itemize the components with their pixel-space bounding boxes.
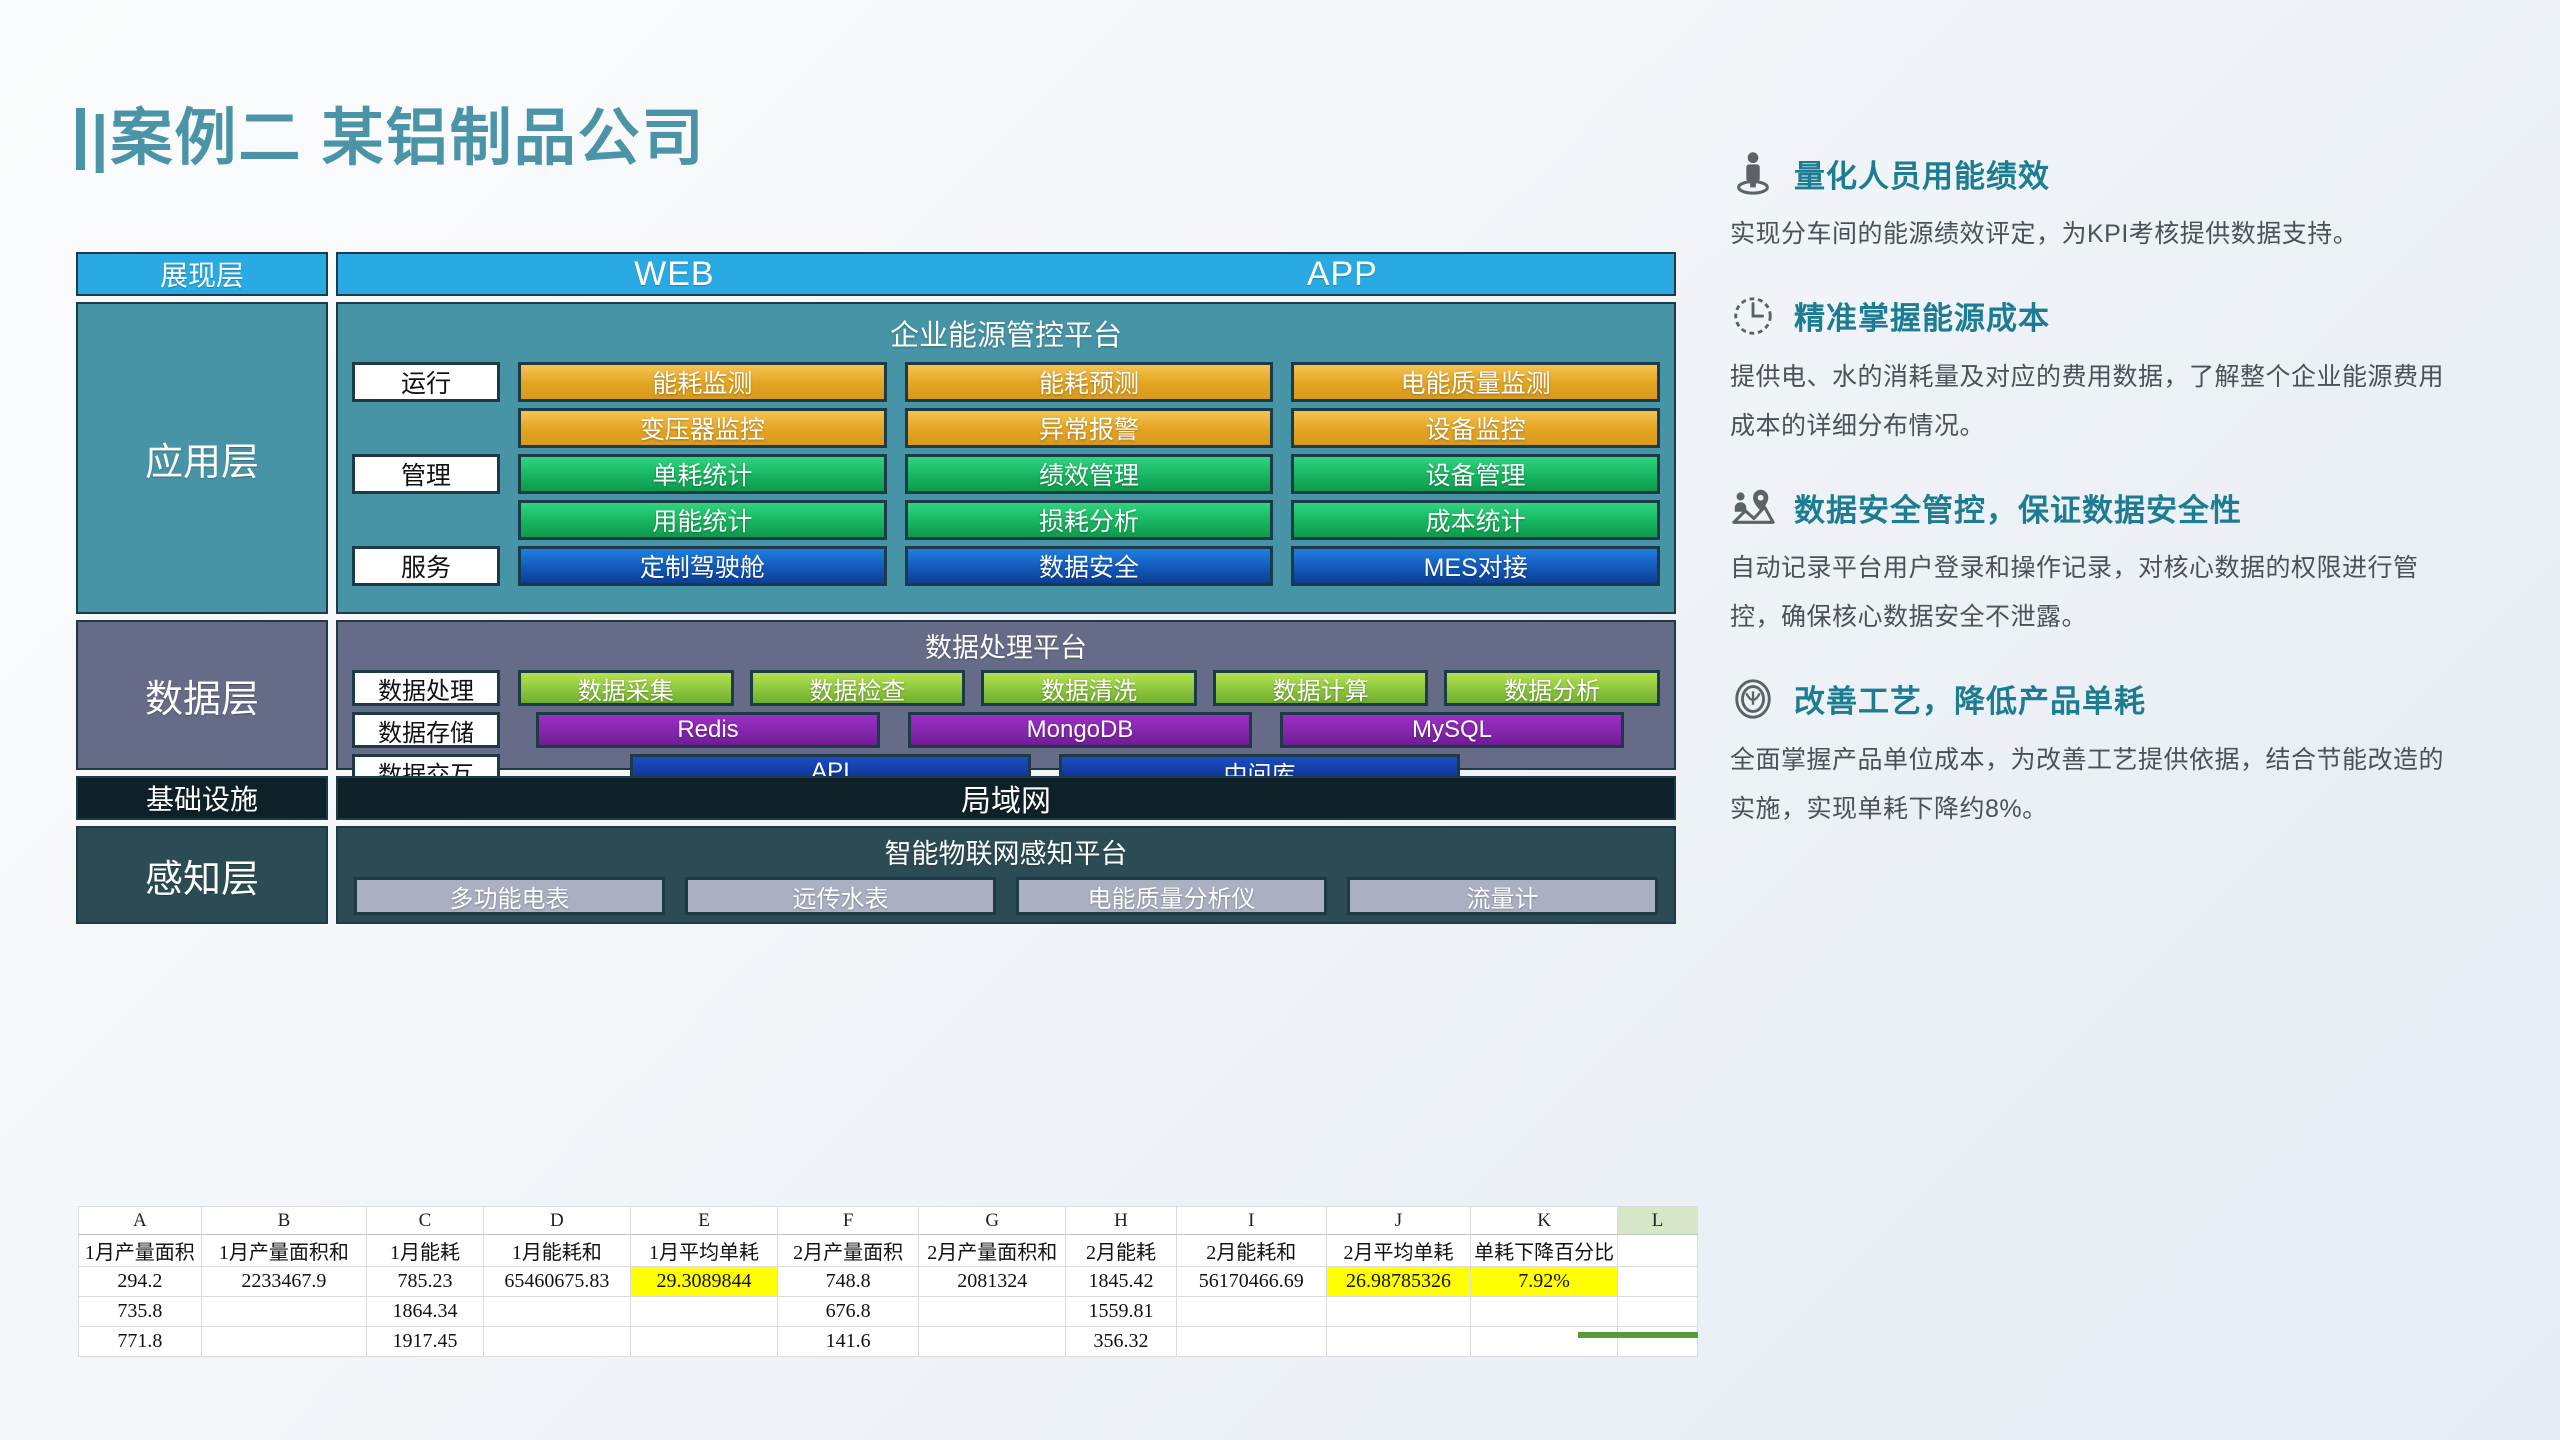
data-store-redis[interactable]: Redis xyxy=(536,712,880,748)
header-cell-g[interactable]: 2月产量面积和 xyxy=(919,1235,1066,1267)
cell-f2[interactable]: 676.8 xyxy=(778,1297,919,1327)
application-layer-row: 应用层 企业能源管控平台 运行 能耗监测 能耗预测 电能质量监测 变压器监控 xyxy=(76,302,1676,614)
cell-g2[interactable] xyxy=(919,1297,1066,1327)
cell-l2[interactable] xyxy=(1618,1297,1698,1327)
header-cell-d[interactable]: 1月能耗和 xyxy=(483,1235,630,1267)
cell-h1[interactable]: 1845.42 xyxy=(1066,1267,1176,1297)
data-layer-row: 数据层 数据处理平台 数据处理 数据采集 数据检查 数据清洗 数据计算 数据分析… xyxy=(76,620,1676,770)
app-category-service: 服务 xyxy=(352,546,500,586)
cell-k2[interactable] xyxy=(1471,1297,1618,1327)
cell-b2[interactable] xyxy=(201,1297,367,1327)
app-module-energy-monitor[interactable]: 能耗监测 xyxy=(518,362,887,402)
app-module-cost-stats[interactable]: 成本统计 xyxy=(1291,500,1660,540)
cell-f3[interactable]: 141.6 xyxy=(778,1327,919,1357)
column-letter-row: A B C D E F G H I J K L xyxy=(79,1207,1698,1235)
spreadsheet-table: A B C D E F G H I J K L 1月产量面积 1月产量面积和 1… xyxy=(78,1206,1698,1357)
app-module-loss-analysis[interactable]: 损耗分析 xyxy=(905,500,1274,540)
data-category-storage: 数据存储 xyxy=(352,712,500,748)
cell-e2[interactable] xyxy=(630,1297,777,1327)
column-letter-b[interactable]: B xyxy=(201,1207,367,1235)
header-cell-i[interactable]: 2月能耗和 xyxy=(1176,1235,1326,1267)
header-cell-b[interactable]: 1月产量面积和 xyxy=(201,1235,367,1267)
data-category-processing: 数据处理 xyxy=(352,670,500,706)
column-letter-e[interactable]: E xyxy=(630,1207,777,1235)
benefit-body: 自动记录平台用户登录和操作记录，对核心数据的权限进行管控，确保核心数据安全不泄露… xyxy=(1730,544,2450,642)
perception-layer-row: 感知层 智能物联网感知平台 多功能电表 远传水表 电能质量分析仪 流量计 xyxy=(76,826,1676,924)
header-cell-f[interactable]: 2月产量面积 xyxy=(778,1235,919,1267)
clock-icon xyxy=(1730,293,1776,339)
app-module-energy-usage-stats[interactable]: 用能统计 xyxy=(518,500,887,540)
app-module-unit-consumption-stats[interactable]: 单耗统计 xyxy=(518,454,887,494)
column-letter-c[interactable]: C xyxy=(367,1207,484,1235)
benefit-title: 量化人员用能绩效 xyxy=(1794,151,2050,196)
title-accent-bar xyxy=(76,108,85,170)
app-module-data-security[interactable]: 数据安全 xyxy=(905,546,1274,586)
layer-label-application: 应用层 xyxy=(76,302,328,614)
device-flow-meter[interactable]: 流量计 xyxy=(1347,877,1658,915)
layer-label-presentation: 展现层 xyxy=(76,252,328,296)
cell-l3[interactable] xyxy=(1618,1327,1698,1357)
layer-label-data: 数据层 xyxy=(76,620,328,770)
column-letter-a[interactable]: A xyxy=(79,1207,202,1235)
map-pin-icon xyxy=(1730,484,1776,530)
cell-a3[interactable]: 771.8 xyxy=(79,1327,202,1357)
column-letter-d[interactable]: D xyxy=(483,1207,630,1235)
cell-f1[interactable]: 748.8 xyxy=(778,1267,919,1297)
benefit-title: 数据安全管控，保证数据安全性 xyxy=(1794,485,2242,530)
column-selection-indicator xyxy=(1578,1332,1698,1338)
data-module-cleaning[interactable]: 数据清洗 xyxy=(981,670,1197,706)
infrastructure-layer-row: 基础设施 局域网 xyxy=(76,776,1676,820)
cell-a1[interactable]: 294.2 xyxy=(79,1267,202,1297)
app-module-abnormal-alarm[interactable]: 异常报警 xyxy=(905,408,1274,448)
column-letter-h[interactable]: H xyxy=(1066,1207,1176,1235)
cell-i3[interactable] xyxy=(1176,1327,1326,1357)
data-layer-body: 数据处理平台 数据处理 数据采集 数据检查 数据清洗 数据计算 数据分析 数据存… xyxy=(336,620,1676,770)
data-platform-title: 数据处理平台 xyxy=(352,626,1660,665)
page-title: |案例二 某铝制品公司 xyxy=(91,108,706,170)
cell-a2[interactable]: 735.8 xyxy=(79,1297,202,1327)
table-row: 735.8 1864.34 676.8 1559.81 xyxy=(79,1297,1698,1327)
table-row: 771.8 1917.45 141.6 356.32 xyxy=(79,1327,1698,1357)
app-module-device-management[interactable]: 设备管理 xyxy=(1291,454,1660,494)
channel-web: WEB xyxy=(634,255,714,294)
cell-j1[interactable]: 26.98785326 xyxy=(1326,1267,1470,1297)
cell-h3[interactable]: 356.32 xyxy=(1066,1327,1176,1357)
app-category-spacer-1 xyxy=(352,408,500,448)
cell-c3[interactable]: 1917.45 xyxy=(367,1327,484,1357)
data-row-storage: 数据存储 Redis MongoDB MySQL xyxy=(352,711,1660,749)
header-cell-a[interactable]: 1月产量面积 xyxy=(79,1235,202,1267)
column-letter-i[interactable]: I xyxy=(1176,1207,1326,1235)
application-row-manage-1: 管理 单耗统计 绩效管理 设备管理 xyxy=(352,454,1660,494)
column-letter-k[interactable]: K xyxy=(1471,1207,1618,1235)
app-module-custom-cockpit[interactable]: 定制驾驶舱 xyxy=(518,546,887,586)
app-module-device-monitor[interactable]: 设备监控 xyxy=(1291,408,1660,448)
data-module-analysis[interactable]: 数据分析 xyxy=(1444,670,1660,706)
cell-c1[interactable]: 785.23 xyxy=(367,1267,484,1297)
cell-b3[interactable] xyxy=(201,1327,367,1357)
cell-b1[interactable]: 2233467.9 xyxy=(201,1267,367,1297)
header-cell-e[interactable]: 1月平均单耗 xyxy=(630,1235,777,1267)
data-module-computation[interactable]: 数据计算 xyxy=(1213,670,1429,706)
data-module-check[interactable]: 数据检查 xyxy=(750,670,966,706)
perception-layer-body: 智能物联网感知平台 多功能电表 远传水表 电能质量分析仪 流量计 xyxy=(336,826,1676,924)
cell-k3[interactable] xyxy=(1471,1327,1618,1357)
benefit-item: 数据安全管控，保证数据安全性 自动记录平台用户登录和操作记录，对核心数据的权限进… xyxy=(1730,484,2520,642)
cell-e3[interactable] xyxy=(630,1327,777,1357)
application-row-run-1: 运行 能耗监测 能耗预测 电能质量监测 xyxy=(352,362,1660,402)
cell-h2[interactable]: 1559.81 xyxy=(1066,1297,1176,1327)
application-row-run-2: 变压器监控 异常报警 设备监控 xyxy=(352,408,1660,448)
header-cell-k[interactable]: 单耗下降百分比 xyxy=(1471,1235,1618,1267)
cell-e1[interactable]: 29.3089844 xyxy=(630,1267,777,1297)
header-cell-j[interactable]: 2月平均单耗 xyxy=(1326,1235,1470,1267)
perception-device-list: 多功能电表 远传水表 电能质量分析仪 流量计 xyxy=(354,877,1658,915)
presentation-channels: WEB APP xyxy=(336,252,1676,296)
app-category-run: 运行 xyxy=(352,362,500,402)
cell-g1[interactable]: 2081324 xyxy=(919,1267,1066,1297)
app-module-power-quality-monitor[interactable]: 电能质量监测 xyxy=(1291,362,1660,402)
data-store-mongodb[interactable]: MongoDB xyxy=(908,712,1252,748)
spreadsheet[interactable]: A B C D E F G H I J K L 1月产量面积 1月产量面积和 1… xyxy=(78,1206,1698,1357)
gauge-icon xyxy=(1730,676,1776,722)
header-cell-h[interactable]: 2月能耗 xyxy=(1066,1235,1176,1267)
application-module-grid: 运行 能耗监测 能耗预测 电能质量监测 变压器监控 异常报警 设备监控 xyxy=(352,362,1660,586)
benefit-title: 精准掌握能源成本 xyxy=(1794,293,2050,338)
spreadsheet-header-row: 1月产量面积 1月产量面积和 1月能耗 1月能耗和 1月平均单耗 2月产量面积 … xyxy=(79,1235,1698,1267)
app-module-mes-integration[interactable]: MES对接 xyxy=(1291,546,1660,586)
cell-l1[interactable] xyxy=(1618,1267,1698,1297)
header-cell-l[interactable] xyxy=(1618,1235,1698,1267)
data-module-collection[interactable]: 数据采集 xyxy=(518,670,734,706)
header-cell-c[interactable]: 1月能耗 xyxy=(367,1235,484,1267)
cell-g3[interactable] xyxy=(919,1327,1066,1357)
person-location-icon xyxy=(1730,150,1776,196)
app-module-performance-management[interactable]: 绩效管理 xyxy=(905,454,1274,494)
cell-k1[interactable]: 7.92% xyxy=(1471,1267,1618,1297)
layer-label-perception: 感知层 xyxy=(76,826,328,924)
cell-j3[interactable] xyxy=(1326,1327,1470,1357)
application-layer-body: 企业能源管控平台 运行 能耗监测 能耗预测 电能质量监测 变压器监控 异常报警 xyxy=(336,302,1676,614)
channel-app: APP xyxy=(1307,255,1378,294)
cell-i2[interactable] xyxy=(1176,1297,1326,1327)
cell-d1[interactable]: 65460675.83 xyxy=(483,1267,630,1297)
app-module-energy-forecast[interactable]: 能耗预测 xyxy=(905,362,1274,402)
benefit-title: 改善工艺，降低产品单耗 xyxy=(1794,676,2146,721)
benefits-panel: 量化人员用能绩效 实现分车间的能源绩效评定，为KPI考核提供数据支持。 精准掌握… xyxy=(1730,150,2520,867)
application-row-service: 服务 定制驾驶舱 数据安全 MES对接 xyxy=(352,546,1660,586)
data-store-mysql[interactable]: MySQL xyxy=(1280,712,1624,748)
infrastructure-layer-body: 局域网 xyxy=(336,776,1676,820)
benefit-item: 改善工艺，降低产品单耗 全面掌握产品单位成本，为改善工艺提供依据，结合节能改造的… xyxy=(1730,676,2520,834)
device-remote-water-meter[interactable]: 远传水表 xyxy=(685,877,996,915)
layer-label-infrastructure: 基础设施 xyxy=(76,776,328,820)
benefit-body: 提供电、水的消耗量及对应的费用数据，了解整个企业能源费用成本的详细分布情况。 xyxy=(1730,353,2450,451)
column-letter-f[interactable]: F xyxy=(778,1207,919,1235)
data-row-processing: 数据处理 数据采集 数据检查 数据清洗 数据计算 数据分析 xyxy=(352,669,1660,707)
column-letter-g[interactable]: G xyxy=(919,1207,1066,1235)
cell-d2[interactable] xyxy=(483,1297,630,1327)
architecture-diagram: 展现层 WEB APP 应用层 企业能源管控平台 运行 能耗监测 能耗预测 电能… xyxy=(76,252,1676,930)
app-category-spacer-2 xyxy=(352,500,500,540)
device-power-quality-analyzer[interactable]: 电能质量分析仪 xyxy=(1016,877,1327,915)
benefit-item: 量化人员用能绩效 实现分车间的能源绩效评定，为KPI考核提供数据支持。 xyxy=(1730,150,2520,259)
infrastructure-value: 局域网 xyxy=(961,776,1051,820)
column-letter-j[interactable]: J xyxy=(1326,1207,1470,1235)
cell-i1[interactable]: 56170466.69 xyxy=(1176,1267,1326,1297)
page-title-block: |案例二 某铝制品公司 xyxy=(76,108,706,170)
application-row-manage-2: 用能统计 损耗分析 成本统计 xyxy=(352,500,1660,540)
app-module-transformer-monitor[interactable]: 变压器监控 xyxy=(518,408,887,448)
column-letter-l[interactable]: L xyxy=(1618,1207,1698,1235)
benefit-body: 实现分车间的能源绩效评定，为KPI考核提供数据支持。 xyxy=(1730,210,2450,259)
cell-d3[interactable] xyxy=(483,1327,630,1357)
cell-j2[interactable] xyxy=(1326,1297,1470,1327)
presentation-layer-row: 展现层 WEB APP xyxy=(76,252,1676,296)
device-multifunction-meter[interactable]: 多功能电表 xyxy=(354,877,665,915)
perception-platform-title: 智能物联网感知平台 xyxy=(354,832,1658,871)
benefit-item: 精准掌握能源成本 提供电、水的消耗量及对应的费用数据，了解整个企业能源费用成本的… xyxy=(1730,293,2520,451)
table-row: 294.2 2233467.9 785.23 65460675.83 29.30… xyxy=(79,1267,1698,1297)
cell-c2[interactable]: 1864.34 xyxy=(367,1297,484,1327)
benefit-body: 全面掌握产品单位成本，为改善工艺提供依据，结合节能改造的实施，实现单耗下降约8%… xyxy=(1730,736,2450,834)
app-category-manage: 管理 xyxy=(352,454,500,494)
application-platform-title: 企业能源管控平台 xyxy=(352,312,1660,354)
